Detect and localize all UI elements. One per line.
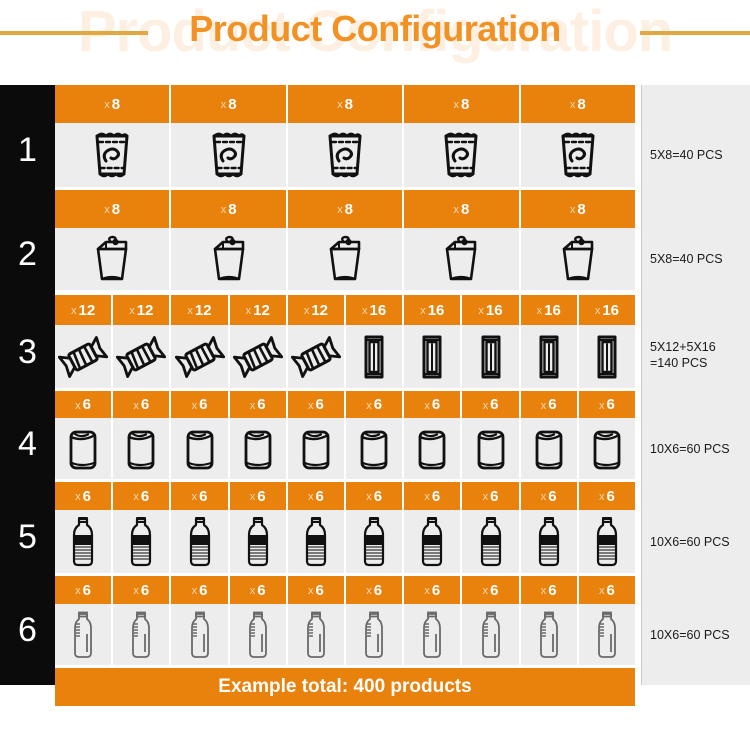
candy-icon xyxy=(233,335,283,379)
multiplier-cell: x8 xyxy=(55,190,171,228)
pieces-label-line1: 5X8=40 PCS xyxy=(650,251,750,267)
product-icon-cell xyxy=(113,325,171,388)
multiplier-value: 12 xyxy=(137,302,154,319)
pieces-label: 5X12+5X16=140 PCS xyxy=(650,339,750,371)
row-number: 5 xyxy=(0,518,55,557)
multiplier-cell: x8 xyxy=(521,85,635,123)
snack-bag-icon xyxy=(556,130,600,180)
multiplier-prefix: x xyxy=(250,491,256,503)
multiplier-cell: x16 xyxy=(462,295,520,325)
soda-can-icon xyxy=(124,425,158,473)
product-icon-cell xyxy=(521,604,579,665)
multiplier-value: 8 xyxy=(228,201,236,218)
multiplier-cell: x6 xyxy=(579,576,635,604)
soda-can-icon xyxy=(474,425,508,473)
multiplier-cell: x6 xyxy=(579,391,635,418)
multiplier-prefix: x xyxy=(337,204,343,216)
multiplier-cell: x6 xyxy=(230,391,288,418)
pieces-label-line1: 10X6=60 PCS xyxy=(650,441,750,457)
multiplier-value: 8 xyxy=(228,96,236,113)
multiplier-value: 6 xyxy=(315,396,323,413)
labeled-bottle-icon xyxy=(419,515,445,569)
multiplier-cell: x6 xyxy=(462,482,520,510)
product-icon-cell xyxy=(521,123,635,187)
soda-can-icon xyxy=(299,425,333,473)
multiplier-value: 6 xyxy=(141,396,149,413)
snack-bag-icon xyxy=(439,130,483,180)
product-icon-cell xyxy=(55,418,113,479)
labeled-bottle-icon xyxy=(70,515,96,569)
multiplier-cell: x8 xyxy=(288,190,404,228)
product-icon-band xyxy=(55,325,635,388)
multiplier-prefix: x xyxy=(308,400,314,412)
product-icon-cell xyxy=(579,325,635,388)
product-icon-cell xyxy=(288,123,404,187)
water-bottle-icon xyxy=(362,610,386,660)
product-row: x12x12x12x12x12x16x16x16x16x16 xyxy=(55,295,635,388)
product-icon-cell xyxy=(113,604,171,665)
product-icon-cell xyxy=(462,604,520,665)
multiplier-value: 6 xyxy=(548,582,556,599)
multiplier-cell: x6 xyxy=(462,391,520,418)
multiplier-value: 6 xyxy=(490,582,498,599)
multiplier-prefix: x xyxy=(133,400,139,412)
labeled-bottle-icon xyxy=(361,515,387,569)
multiplier-value: 8 xyxy=(345,201,353,218)
product-icon-band xyxy=(55,418,635,479)
soda-can-icon xyxy=(183,425,217,473)
multiplier-prefix: x xyxy=(454,204,460,216)
water-bottle-icon xyxy=(595,610,619,660)
multiplier-prefix: x xyxy=(570,204,576,216)
product-icon-cell xyxy=(521,228,635,290)
product-icon-cell xyxy=(579,418,635,479)
multiplier-cell: x6 xyxy=(346,482,404,510)
product-row: x8x8x8x8x8 xyxy=(55,85,635,187)
multiplier-value: 6 xyxy=(199,582,207,599)
takeout-box-icon xyxy=(206,235,252,283)
multiplier-cell: x6 xyxy=(55,391,113,418)
page-title: Product Configuration xyxy=(0,8,750,50)
candy-icon xyxy=(175,335,225,379)
product-icon-cell xyxy=(462,325,520,388)
total-footer-label: Example total: 400 products xyxy=(218,676,471,698)
snack-bar-icon xyxy=(362,334,386,380)
product-icon-cell xyxy=(171,123,287,187)
water-bottle-icon xyxy=(479,610,503,660)
multiplier-prefix: x xyxy=(104,99,110,111)
product-icon-band xyxy=(55,510,635,573)
product-icon-cell xyxy=(288,325,346,388)
multiplier-prefix: x xyxy=(537,305,543,317)
product-icon-cell xyxy=(55,123,171,187)
multiplier-header: x8x8x8x8x8 xyxy=(55,85,635,123)
product-icon-band xyxy=(55,228,635,290)
multiplier-cell: x12 xyxy=(230,295,288,325)
product-icon-cell xyxy=(171,418,229,479)
multiplier-prefix: x xyxy=(424,585,430,597)
multiplier-prefix: x xyxy=(187,305,193,317)
candy-icon xyxy=(116,335,166,379)
labeled-bottle-icon xyxy=(594,515,620,569)
water-bottle-icon xyxy=(129,610,153,660)
multiplier-prefix: x xyxy=(420,305,426,317)
multiplier-value: 8 xyxy=(461,201,469,218)
multiplier-cell: x12 xyxy=(171,295,229,325)
multiplier-value: 6 xyxy=(490,396,498,413)
multiplier-prefix: x xyxy=(71,305,77,317)
multiplier-cell: x16 xyxy=(579,295,635,325)
multiplier-value: 6 xyxy=(83,488,91,505)
multiplier-cell: x8 xyxy=(55,85,171,123)
multiplier-prefix: x xyxy=(599,585,605,597)
product-icon-cell xyxy=(171,228,287,290)
product-icon-cell xyxy=(346,418,404,479)
multiplier-value: 6 xyxy=(374,396,382,413)
product-icon-cell xyxy=(404,418,462,479)
pieces-label-line1: 5X8=40 PCS xyxy=(650,147,750,163)
multiplier-value: 16 xyxy=(428,302,445,319)
pieces-label-panel: 5X8=40 PCS5X8=40 PCS5X12+5X16=140 PCS10X… xyxy=(641,85,750,685)
multiplier-cell: x12 xyxy=(113,295,171,325)
product-icon-cell xyxy=(404,228,520,290)
multiplier-header: x6x6x6x6x6x6x6x6x6x6 xyxy=(55,391,635,418)
row-number: 1 xyxy=(0,131,55,170)
product-icon-cell xyxy=(230,604,288,665)
multiplier-value: 8 xyxy=(345,96,353,113)
multiplier-cell: x8 xyxy=(171,190,287,228)
water-bottle-icon xyxy=(71,610,95,660)
multiplier-prefix: x xyxy=(250,400,256,412)
labeled-bottle-icon xyxy=(536,515,562,569)
multiplier-value: 6 xyxy=(432,396,440,413)
multiplier-value: 16 xyxy=(544,302,561,319)
multiplier-cell: x12 xyxy=(288,295,346,325)
multiplier-prefix: x xyxy=(192,585,198,597)
multiplier-prefix: x xyxy=(424,400,430,412)
pieces-label: 5X8=40 PCS xyxy=(650,147,750,163)
multiplier-prefix: x xyxy=(75,585,81,597)
product-icon-cell xyxy=(521,510,579,573)
multiplier-value: 6 xyxy=(141,582,149,599)
multiplier-value: 6 xyxy=(432,488,440,505)
multiplier-prefix: x xyxy=(221,99,227,111)
product-icon-cell xyxy=(171,604,229,665)
snack-bag-icon xyxy=(207,130,251,180)
multiplier-cell: x16 xyxy=(404,295,462,325)
multiplier-value: 6 xyxy=(374,488,382,505)
multiplier-prefix: x xyxy=(250,585,256,597)
multiplier-cell: x6 xyxy=(171,482,229,510)
multiplier-cell: x6 xyxy=(346,391,404,418)
pieces-label: 5X8=40 PCS xyxy=(650,251,750,267)
multiplier-cell: x6 xyxy=(404,391,462,418)
multiplier-cell: x6 xyxy=(230,576,288,604)
multiplier-cell: x6 xyxy=(288,576,346,604)
product-icon-cell xyxy=(113,418,171,479)
product-icon-cell xyxy=(55,228,171,290)
product-icon-cell xyxy=(346,604,404,665)
product-icon-band xyxy=(55,123,635,187)
product-icon-cell xyxy=(404,123,520,187)
product-icon-cell xyxy=(579,604,635,665)
multiplier-prefix: x xyxy=(104,204,110,216)
product-icon-cell xyxy=(462,510,520,573)
multiplier-value: 6 xyxy=(548,488,556,505)
title-band: Product Configuration Product Configurat… xyxy=(0,0,750,85)
multiplier-value: 6 xyxy=(257,582,265,599)
multiplier-value: 6 xyxy=(607,396,615,413)
multiplier-prefix: x xyxy=(133,585,139,597)
multiplier-value: 12 xyxy=(253,302,270,319)
multiplier-cell: x6 xyxy=(288,391,346,418)
multiplier-value: 8 xyxy=(112,96,120,113)
takeout-box-icon xyxy=(322,235,368,283)
multiplier-value: 6 xyxy=(83,582,91,599)
multiplier-cell: x6 xyxy=(171,576,229,604)
labeled-bottle-icon xyxy=(187,515,213,569)
multiplier-value: 6 xyxy=(607,488,615,505)
multiplier-prefix: x xyxy=(483,491,489,503)
multiplier-prefix: x xyxy=(133,491,139,503)
soda-can-icon xyxy=(66,425,100,473)
multiplier-cell: x16 xyxy=(521,295,579,325)
product-icon-cell xyxy=(346,325,404,388)
product-icon-cell xyxy=(579,510,635,573)
multiplier-prefix: x xyxy=(304,305,310,317)
snack-bag-icon xyxy=(323,130,367,180)
product-icon-cell xyxy=(404,604,462,665)
product-icon-cell xyxy=(346,510,404,573)
pieces-label-line1: 5X12+5X16 xyxy=(650,339,750,355)
multiplier-value: 6 xyxy=(432,582,440,599)
multiplier-value: 8 xyxy=(577,201,585,218)
multiplier-prefix: x xyxy=(599,491,605,503)
row-number: 2 xyxy=(0,235,55,274)
multiplier-value: 12 xyxy=(195,302,212,319)
multiplier-value: 8 xyxy=(577,96,585,113)
multiplier-prefix: x xyxy=(337,99,343,111)
multiplier-value: 6 xyxy=(607,582,615,599)
multiplier-value: 6 xyxy=(199,396,207,413)
product-icon-cell xyxy=(230,510,288,573)
multiplier-prefix: x xyxy=(541,585,547,597)
labeled-bottle-icon xyxy=(478,515,504,569)
multiplier-cell: x8 xyxy=(404,190,520,228)
multiplier-prefix: x xyxy=(75,400,81,412)
product-grid: x8x8x8x8x8 xyxy=(55,85,635,685)
multiplier-prefix: x xyxy=(595,305,601,317)
takeout-box-icon xyxy=(438,235,484,283)
multiplier-value: 8 xyxy=(461,96,469,113)
pieces-label: 10X6=60 PCS xyxy=(650,441,750,457)
multiplier-cell: x6 xyxy=(55,576,113,604)
multiplier-value: 8 xyxy=(112,201,120,218)
multiplier-prefix: x xyxy=(366,585,372,597)
multiplier-cell: x8 xyxy=(404,85,520,123)
multiplier-cell: x6 xyxy=(288,482,346,510)
multiplier-value: 6 xyxy=(374,582,382,599)
multiplier-cell: x8 xyxy=(288,85,404,123)
product-icon-cell xyxy=(404,510,462,573)
multiplier-prefix: x xyxy=(570,99,576,111)
multiplier-cell: x6 xyxy=(579,482,635,510)
row-number: 3 xyxy=(0,333,55,372)
multiplier-prefix: x xyxy=(366,491,372,503)
multiplier-header: x8x8x8x8x8 xyxy=(55,190,635,228)
multiplier-cell: x8 xyxy=(521,190,635,228)
water-bottle-icon xyxy=(188,610,212,660)
multiplier-prefix: x xyxy=(478,305,484,317)
pieces-label: 10X6=60 PCS xyxy=(650,627,750,643)
multiplier-cell: x6 xyxy=(230,482,288,510)
multiplier-prefix: x xyxy=(454,99,460,111)
product-icon-cell xyxy=(521,418,579,479)
labeled-bottle-icon xyxy=(303,515,329,569)
pieces-label-line1: 10X6=60 PCS xyxy=(650,627,750,643)
water-bottle-icon xyxy=(304,610,328,660)
product-icon-cell xyxy=(288,604,346,665)
soda-can-icon xyxy=(415,425,449,473)
multiplier-cell: x6 xyxy=(404,482,462,510)
multiplier-value: 16 xyxy=(370,302,387,319)
multiplier-prefix: x xyxy=(483,585,489,597)
labeled-bottle-icon xyxy=(128,515,154,569)
multiplier-cell: x6 xyxy=(55,482,113,510)
snack-bar-icon xyxy=(420,334,444,380)
candy-icon xyxy=(291,335,341,379)
takeout-box-icon xyxy=(555,235,601,283)
row-number-column: 123456 xyxy=(0,85,55,685)
row-number: 6 xyxy=(0,611,55,650)
product-icon-cell xyxy=(404,325,462,388)
multiplier-prefix: x xyxy=(362,305,368,317)
row-number: 4 xyxy=(0,425,55,464)
multiplier-value: 6 xyxy=(83,396,91,413)
product-row: x6x6x6x6x6x6x6x6x6x6 xyxy=(55,576,635,665)
pieces-label: 10X6=60 PCS xyxy=(650,534,750,550)
product-icon-cell xyxy=(55,604,113,665)
multiplier-cell: x6 xyxy=(462,576,520,604)
multiplier-cell: x6 xyxy=(113,576,171,604)
product-icon-cell xyxy=(230,325,288,388)
snack-bag-icon xyxy=(90,130,134,180)
multiplier-cell: x6 xyxy=(171,391,229,418)
multiplier-prefix: x xyxy=(483,400,489,412)
product-icon-cell xyxy=(171,510,229,573)
multiplier-value: 6 xyxy=(199,488,207,505)
multiplier-header: x12x12x12x12x12x16x16x16x16x16 xyxy=(55,295,635,325)
multiplier-cell: x16 xyxy=(346,295,404,325)
multiplier-prefix: x xyxy=(192,491,198,503)
multiplier-prefix: x xyxy=(424,491,430,503)
multiplier-value: 6 xyxy=(141,488,149,505)
multiplier-prefix: x xyxy=(541,400,547,412)
multiplier-cell: x6 xyxy=(113,391,171,418)
product-icon-cell xyxy=(288,418,346,479)
multiplier-prefix: x xyxy=(75,491,81,503)
takeout-box-icon xyxy=(89,235,135,283)
multiplier-cell: x6 xyxy=(521,482,579,510)
multiplier-prefix: x xyxy=(129,305,135,317)
multiplier-cell: x6 xyxy=(346,576,404,604)
multiplier-prefix: x xyxy=(246,305,252,317)
multiplier-cell: x6 xyxy=(404,576,462,604)
multiplier-value: 12 xyxy=(79,302,96,319)
product-icon-cell xyxy=(288,228,404,290)
multiplier-cell: x6 xyxy=(113,482,171,510)
product-row: x6x6x6x6x6x6x6x6x6x6 xyxy=(55,391,635,479)
multiplier-prefix: x xyxy=(366,400,372,412)
multiplier-prefix: x xyxy=(599,400,605,412)
snack-bar-icon xyxy=(479,334,503,380)
multiplier-cell: x6 xyxy=(521,391,579,418)
configuration-board: 123456 x8x8x8x8x8 xyxy=(0,85,750,685)
product-icon-cell xyxy=(55,510,113,573)
product-icon-band xyxy=(55,604,635,665)
multiplier-cell: x8 xyxy=(171,85,287,123)
product-row: x8x8x8x8x8 xyxy=(55,190,635,290)
multiplier-value: 16 xyxy=(602,302,619,319)
multiplier-header: x6x6x6x6x6x6x6x6x6x6 xyxy=(55,576,635,604)
multiplier-value: 6 xyxy=(548,396,556,413)
multiplier-cell: x12 xyxy=(55,295,113,325)
multiplier-prefix: x xyxy=(308,585,314,597)
multiplier-header: x6x6x6x6x6x6x6x6x6x6 xyxy=(55,482,635,510)
product-icon-cell xyxy=(55,325,113,388)
multiplier-prefix: x xyxy=(541,491,547,503)
product-icon-cell xyxy=(171,325,229,388)
multiplier-value: 16 xyxy=(486,302,503,319)
soda-can-icon xyxy=(357,425,391,473)
labeled-bottle-icon xyxy=(245,515,271,569)
total-footer-bar: Example total: 400 products xyxy=(55,668,635,706)
snack-bar-icon xyxy=(537,334,561,380)
water-bottle-icon xyxy=(246,610,270,660)
snack-bar-icon xyxy=(595,334,619,380)
water-bottle-icon xyxy=(420,610,444,660)
multiplier-value: 12 xyxy=(311,302,328,319)
multiplier-cell: x6 xyxy=(521,576,579,604)
multiplier-value: 6 xyxy=(257,488,265,505)
multiplier-value: 6 xyxy=(315,488,323,505)
soda-can-icon xyxy=(532,425,566,473)
multiplier-prefix: x xyxy=(221,204,227,216)
product-icon-cell xyxy=(521,325,579,388)
water-bottle-icon xyxy=(537,610,561,660)
soda-can-icon xyxy=(590,425,624,473)
pieces-label-line2: =140 PCS xyxy=(650,355,750,371)
soda-can-icon xyxy=(241,425,275,473)
product-icon-cell xyxy=(113,510,171,573)
candy-icon xyxy=(58,335,108,379)
product-icon-cell xyxy=(288,510,346,573)
product-icon-cell xyxy=(230,418,288,479)
product-row: x6x6x6x6x6x6x6x6x6x6 xyxy=(55,482,635,573)
pieces-label-line1: 10X6=60 PCS xyxy=(650,534,750,550)
product-icon-cell xyxy=(462,418,520,479)
multiplier-value: 6 xyxy=(257,396,265,413)
multiplier-value: 6 xyxy=(315,582,323,599)
multiplier-value: 6 xyxy=(490,488,498,505)
multiplier-prefix: x xyxy=(192,400,198,412)
multiplier-prefix: x xyxy=(308,491,314,503)
